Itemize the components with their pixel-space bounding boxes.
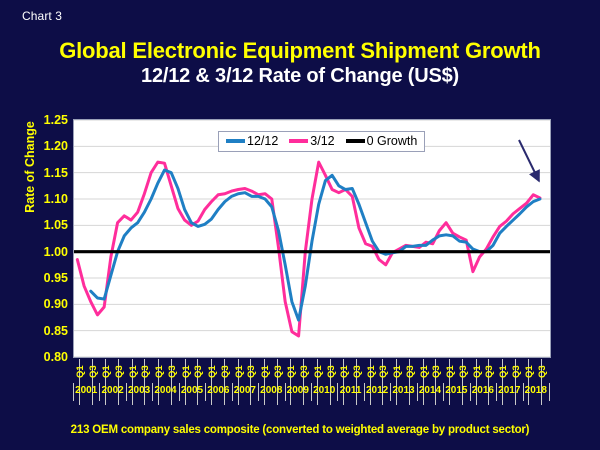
quarter-tick-label: Q3 xyxy=(192,361,206,383)
quarter-tick-label: Q3 xyxy=(351,361,365,383)
quarter-tick-label: Q1 xyxy=(206,361,220,383)
y-tick-label: 0.95 xyxy=(22,271,68,285)
y-tick-label: 1.10 xyxy=(22,192,68,206)
year-label: 2017 xyxy=(496,385,522,396)
quarter-tick-label: Q1 xyxy=(497,361,511,383)
legend-swatch-1212 xyxy=(226,139,245,143)
plot-svg xyxy=(74,120,550,357)
year-label: 2004 xyxy=(152,385,178,396)
y-tick-label: 0.90 xyxy=(22,297,68,311)
year-label: 2014 xyxy=(417,385,443,396)
year-label: 2008 xyxy=(258,385,284,396)
year-label: 2009 xyxy=(285,385,311,396)
quarter-tick-label: Q3 xyxy=(457,361,471,383)
year-label: 2018 xyxy=(523,385,549,396)
quarter-tick-label: Q3 xyxy=(272,361,286,383)
y-tick-label: 1.20 xyxy=(22,139,68,153)
footnote: 213 OEM company sales composite (convert… xyxy=(0,424,600,436)
y-tick-label: 1.00 xyxy=(22,245,68,259)
quarter-tick-label: Q3 xyxy=(166,361,180,383)
y-tick-label: 1.15 xyxy=(22,166,68,180)
legend-label-zero-growth: 0 Growth xyxy=(367,134,418,148)
page-title: Global Electronic Equipment Shipment Gro… xyxy=(0,38,600,89)
year-label: 2006 xyxy=(205,385,231,396)
legend-item-zero-growth: 0 Growth xyxy=(346,134,418,148)
y-tick-label: 0.85 xyxy=(22,324,68,338)
quarter-tick-label: Q3 xyxy=(298,361,312,383)
title-line-2: 12/12 & 3/12 Rate of Change (US$) xyxy=(0,64,600,89)
year-label: 2005 xyxy=(179,385,205,396)
year-label: 2001 xyxy=(73,385,99,396)
quarter-tick-label: Q3 xyxy=(113,361,127,383)
year-label: 2012 xyxy=(364,385,390,396)
y-tick-label: 1.05 xyxy=(22,218,68,232)
year-label: 2016 xyxy=(470,385,496,396)
x-axis: Q1Q32001Q1Q32002Q1Q32003Q1Q32004Q1Q32005… xyxy=(73,359,551,409)
year-label: 2013 xyxy=(390,385,416,396)
year-label: 2010 xyxy=(311,385,337,396)
plot-area xyxy=(73,119,551,358)
quarter-tick-label: Q3 xyxy=(87,361,101,383)
chart-number-label: Chart 3 xyxy=(22,9,62,23)
series-line-12-12 xyxy=(91,170,540,320)
quarter-tick-label: Q3 xyxy=(219,361,233,383)
quarter-tick-label: Q3 xyxy=(139,361,153,383)
year-separator xyxy=(549,383,550,401)
year-label: 2011 xyxy=(337,385,363,396)
legend-swatch-zero-growth xyxy=(346,139,365,143)
series-line-3-12 xyxy=(77,162,540,336)
y-tick-label: 0.80 xyxy=(22,350,68,364)
quarter-tick-label: Q3 xyxy=(325,361,339,383)
year-label: 2003 xyxy=(126,385,152,396)
quarter-tick-label: Q3 xyxy=(430,361,444,383)
quarter-tick-label: Q3 xyxy=(404,361,418,383)
y-tick-label: 1.25 xyxy=(22,113,68,127)
year-label: 2002 xyxy=(99,385,125,396)
y-axis-tick-labels: 1.251.201.151.101.051.000.950.900.850.80 xyxy=(20,119,68,358)
quarter-tick-label: Q1 xyxy=(74,361,88,383)
title-line-1: Global Electronic Equipment Shipment Gro… xyxy=(0,38,600,64)
chart-legend: 12/12 3/12 0 Growth xyxy=(218,131,425,152)
year-label: 2015 xyxy=(443,385,469,396)
quarter-tick-label: Q3 xyxy=(483,361,497,383)
quarter-tick-label: Q1 xyxy=(312,361,326,383)
legend-item-312: 3/12 xyxy=(289,134,334,148)
year-label: 2007 xyxy=(232,385,258,396)
legend-swatch-312 xyxy=(289,139,308,143)
quarter-tick-label: Q3 xyxy=(536,361,550,383)
legend-label-312: 3/12 xyxy=(310,134,334,148)
quarter-tick-label: Q3 xyxy=(245,361,259,383)
quarter-tick-label: Q3 xyxy=(377,361,391,383)
quarter-tick-label: Q3 xyxy=(510,361,524,383)
legend-label-1212: 12/12 xyxy=(247,134,278,148)
slide-root: Chart 3 Global Electronic Equipment Ship… xyxy=(0,0,600,450)
quarter-tick-label: Q1 xyxy=(259,361,273,383)
legend-item-1212: 12/12 xyxy=(226,134,278,148)
quarter-tick-label: Q1 xyxy=(444,361,458,383)
